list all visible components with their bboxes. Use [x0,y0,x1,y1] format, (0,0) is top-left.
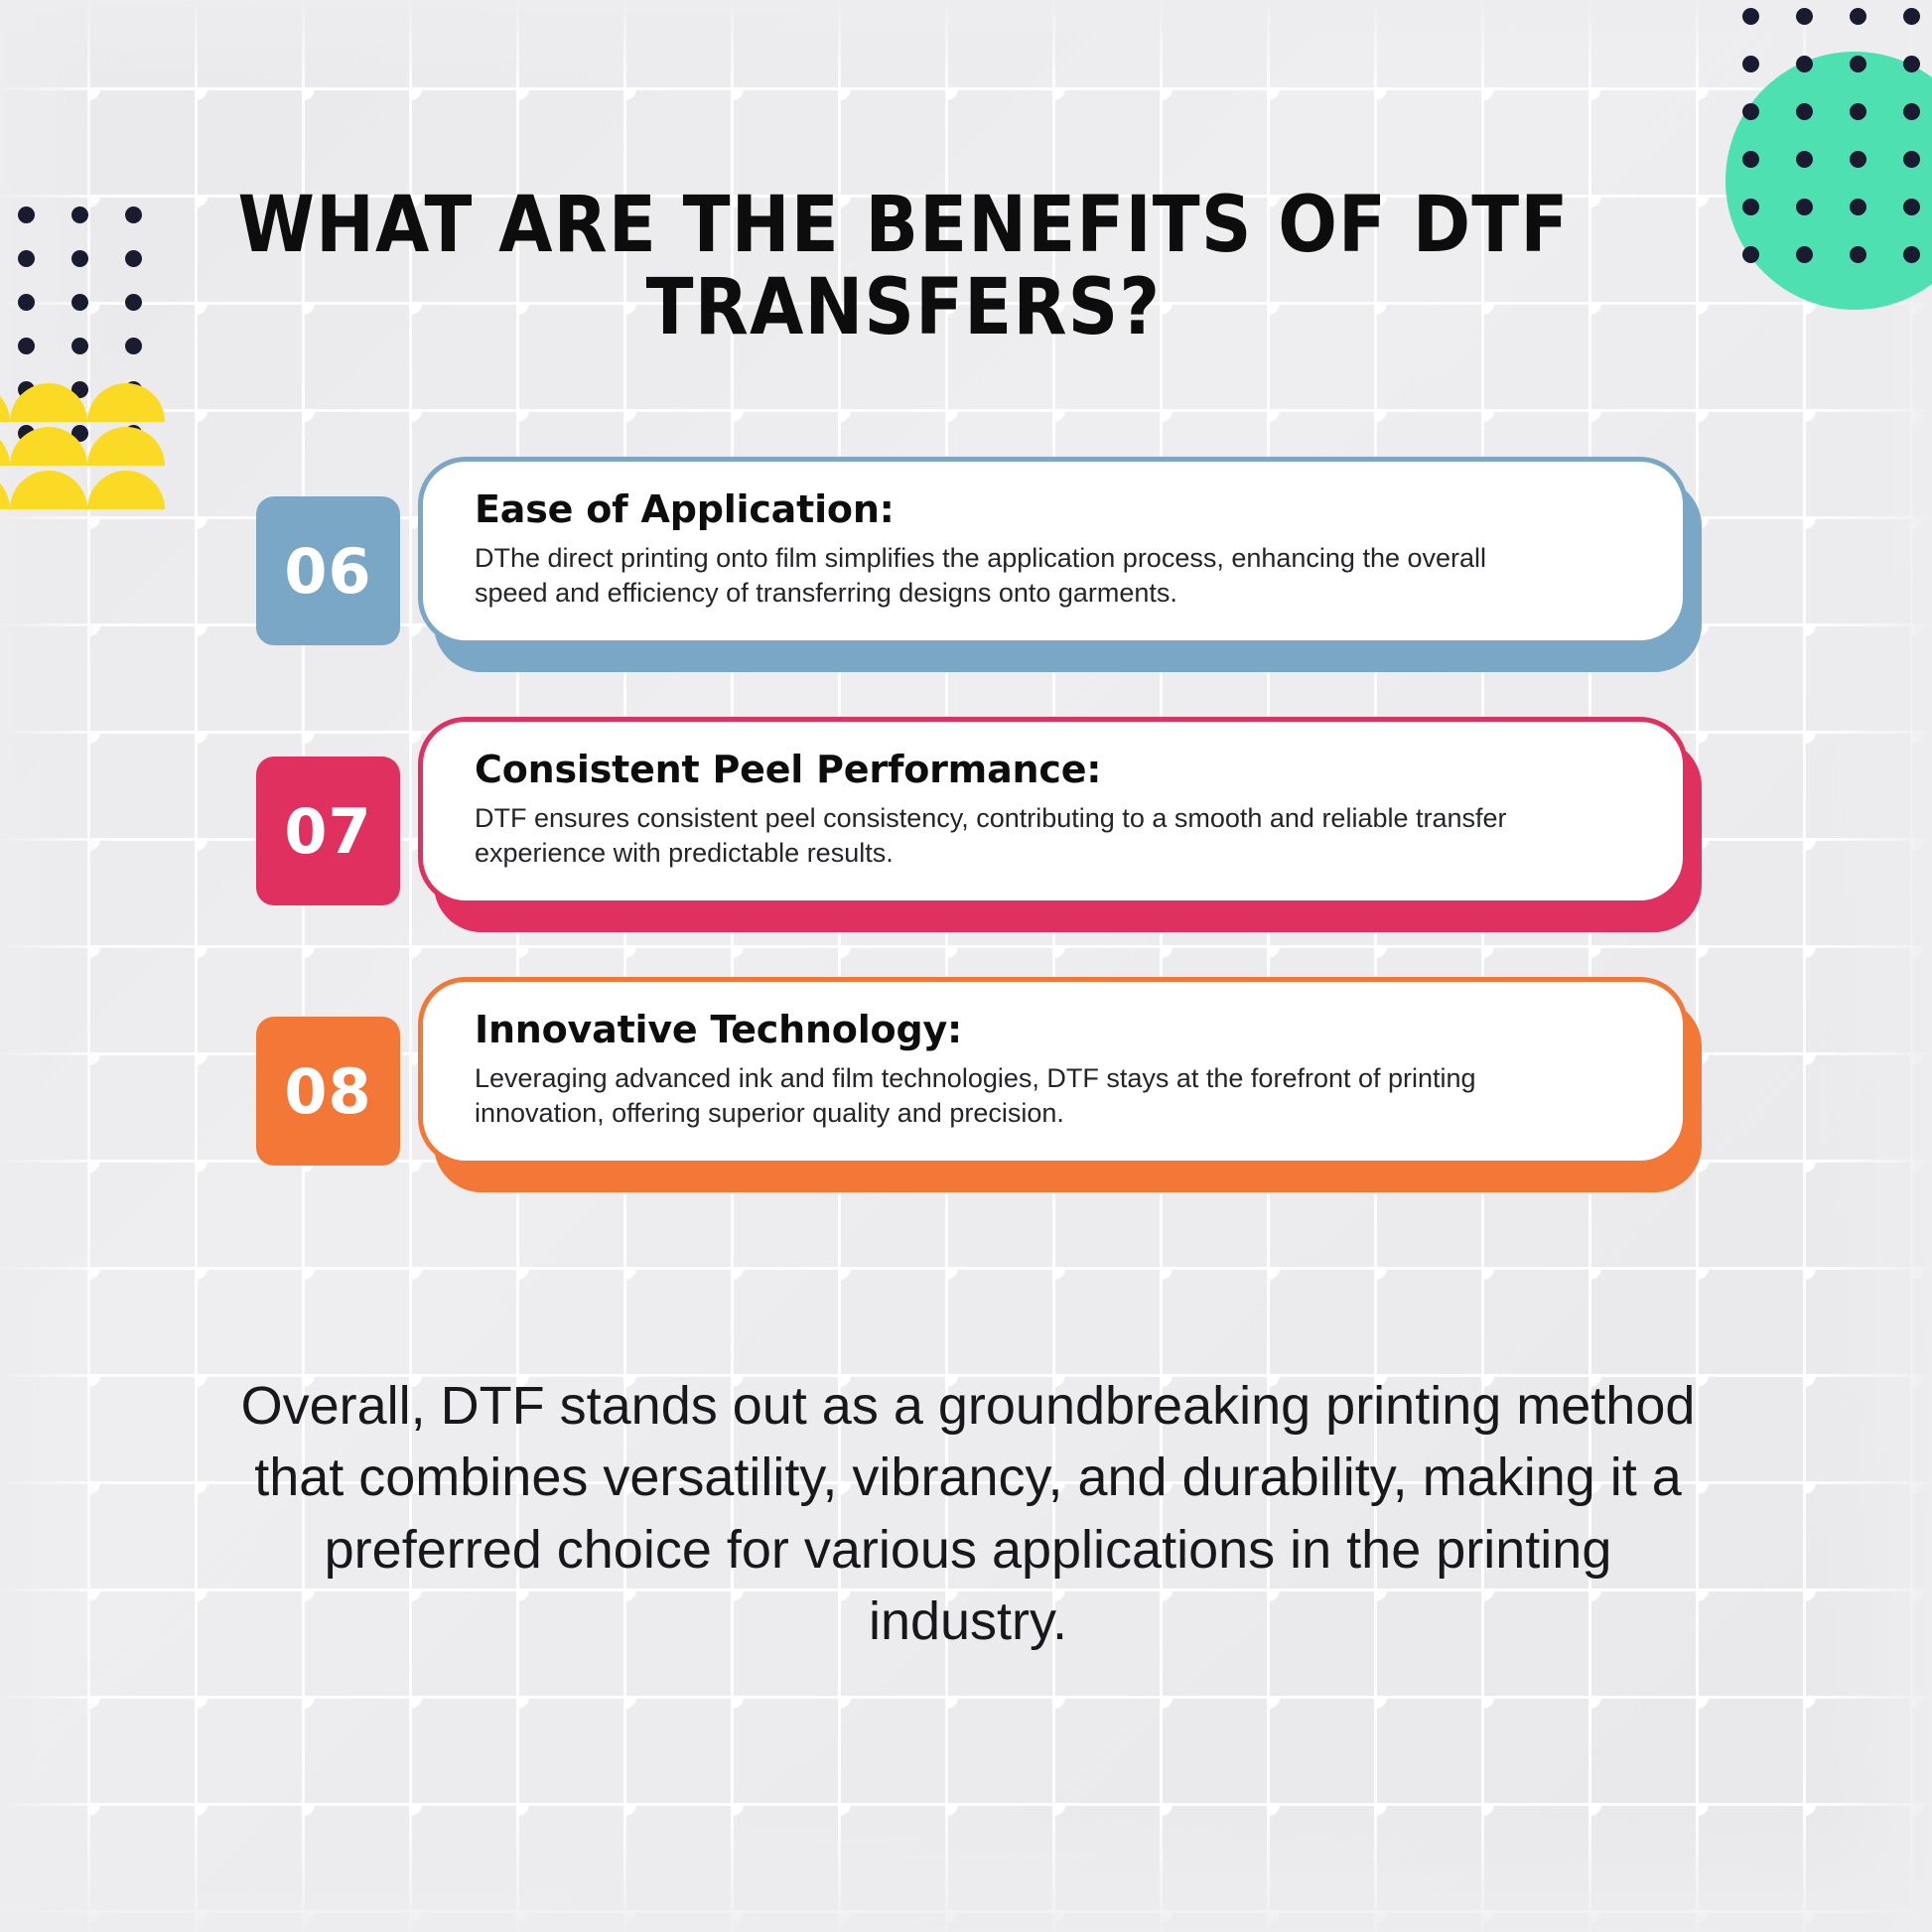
dot-decoration [1796,56,1813,72]
dot-grid-top-right [1742,8,1920,263]
card-title: Consistent Peel Performance: [475,748,1639,791]
summary-paragraph: Overall, DTF stands out as a groundbreak… [238,1370,1698,1657]
benefit-card-row: 07 Consistent Peel Performance: DTF ensu… [256,717,1688,977]
dot-decoration [18,207,35,223]
dot-decoration [71,294,88,311]
dot-decoration [125,207,142,223]
dot-decoration [1903,199,1920,215]
dot-decoration [18,294,35,311]
dot-decoration [1796,103,1813,120]
dot-decoration [1742,103,1759,120]
dot-decoration [1796,151,1813,168]
dot-decoration [18,250,35,267]
dot-decoration [1903,103,1920,120]
card-title: Ease of Application: [475,487,1639,531]
yellow-semicircle [87,427,165,466]
dot-decoration [1796,199,1813,215]
dot-decoration [18,338,35,354]
card-stack: Ease of Application: DThe direct printin… [418,457,1688,660]
dot-decoration [1903,151,1920,168]
dot-decoration [1742,151,1759,168]
dot-decoration [125,338,142,354]
card-number-badge: 07 [256,757,400,905]
card-stack: Innovative Technology: Leveraging advanc… [418,977,1688,1180]
dot-decoration [1742,246,1759,263]
yellow-semicircle [0,471,10,509]
page-title: WHAT ARE THE BENEFITS OF DTF TRANSFERS? [199,185,1608,348]
dot-decoration [1742,8,1759,25]
benefit-card-list: 06 Ease of Application: DThe direct prin… [256,457,1688,1237]
benefit-card: Consistent Peel Performance: DTF ensures… [418,717,1688,905]
dot-decoration [1796,246,1813,263]
dot-decoration [1850,8,1866,25]
benefit-card: Innovative Technology: Leveraging advanc… [418,977,1688,1166]
card-body-text: DTF ensures consistent peel consistency,… [475,801,1557,871]
card-title: Innovative Technology: [475,1008,1639,1051]
yellow-semicircle [10,471,87,509]
card-number-badge: 06 [256,496,400,645]
dot-decoration [125,294,142,311]
card-body-text: Leveraging advanced ink and film technol… [475,1061,1557,1131]
dot-decoration [1850,103,1866,120]
card-stack: Consistent Peel Performance: DTF ensures… [418,717,1688,920]
dot-decoration [1850,199,1866,215]
dot-decoration [1850,151,1866,168]
dot-decoration [1903,246,1920,263]
dot-decoration [1796,8,1813,25]
card-body-text: DThe direct printing onto film simplifie… [475,541,1557,611]
yellow-semicircle [10,383,87,422]
yellow-semicircle [0,427,10,466]
dot-decoration [1903,8,1920,25]
dot-decoration [71,338,88,354]
benefit-card-row: 08 Innovative Technology: Leveraging adv… [256,977,1688,1237]
yellow-semicircle-cluster [0,383,175,512]
dot-decoration [1742,199,1759,215]
yellow-semicircle [0,383,10,422]
dot-decoration [1850,246,1866,263]
yellow-semicircle [87,471,165,509]
card-number-badge: 08 [256,1017,400,1166]
benefit-card-row: 06 Ease of Application: DThe direct prin… [256,457,1688,717]
dot-decoration [71,250,88,267]
dot-decoration [1742,56,1759,72]
yellow-semicircle [10,427,87,466]
dot-decoration [125,250,142,267]
benefit-card: Ease of Application: DThe direct printin… [418,457,1688,645]
dot-decoration [71,207,88,223]
dot-decoration [1850,56,1866,72]
yellow-semicircle [87,383,165,422]
dot-decoration [1903,56,1920,72]
